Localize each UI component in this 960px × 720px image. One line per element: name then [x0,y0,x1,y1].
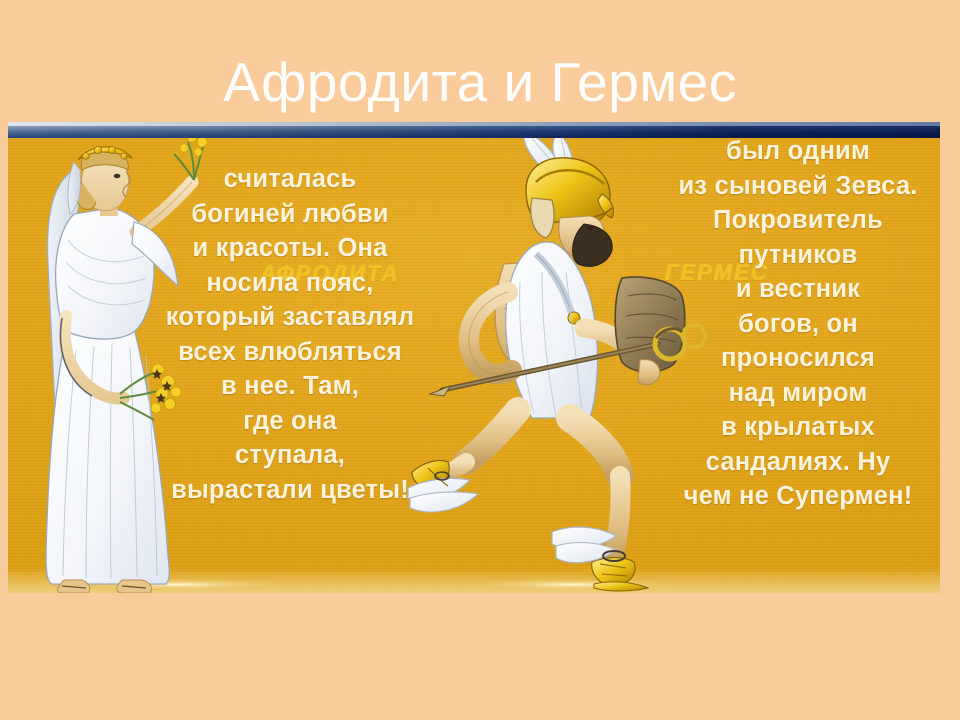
aphrodite-eye [114,174,121,178]
text-line: считалась [140,162,440,197]
hermes-front-thigh [570,418,620,476]
hermes-description: был одним из сыновей Зевса. Покровитель … [648,134,940,514]
text-line: проносился [648,341,940,376]
hermes-eye [587,226,593,230]
text-line: из сыновей Зевса. [648,169,940,204]
text-line: вырастали цветы! [140,473,440,508]
text-line: богиней любви [140,197,440,232]
text-line: который заставлял [140,300,440,335]
text-line: и красоты. Она [140,231,440,266]
hermes-front-shin [612,476,621,560]
text-line: Покровитель [648,203,940,238]
text-line: где она [140,404,440,439]
text-line: носила пояс, [140,266,440,301]
sea-horizon-strip [8,122,940,138]
illustration-panel: АФРОДИТА ГЕРМЕС считалась богиней любви … [8,122,940,593]
text-line: всех влюбляться [140,335,440,370]
text-line: путников [648,238,940,273]
text-line: чем не Супермен! [648,479,940,514]
page-title: Афродита и Гермес [0,50,960,114]
horizon-line [8,122,940,126]
aphrodite-description: считалась богиней любви и красоты. Она н… [140,162,440,507]
hermes-beard [573,224,613,266]
text-line: над миром [648,376,940,411]
text-line: сандалиях. Ну [648,445,940,480]
hermes-back-thigh [466,410,518,462]
hermes-winged-sandal-front [552,527,648,591]
text-line: и вестник [648,272,940,307]
slide-canvas: Афродита и Гермес [0,0,960,720]
text-line: ступала, [140,438,440,473]
text-line: в крылатых [648,410,940,445]
text-line: в нее. Там, [140,369,440,404]
text-line: богов, он [648,307,940,342]
text-line: был одним [648,134,940,169]
